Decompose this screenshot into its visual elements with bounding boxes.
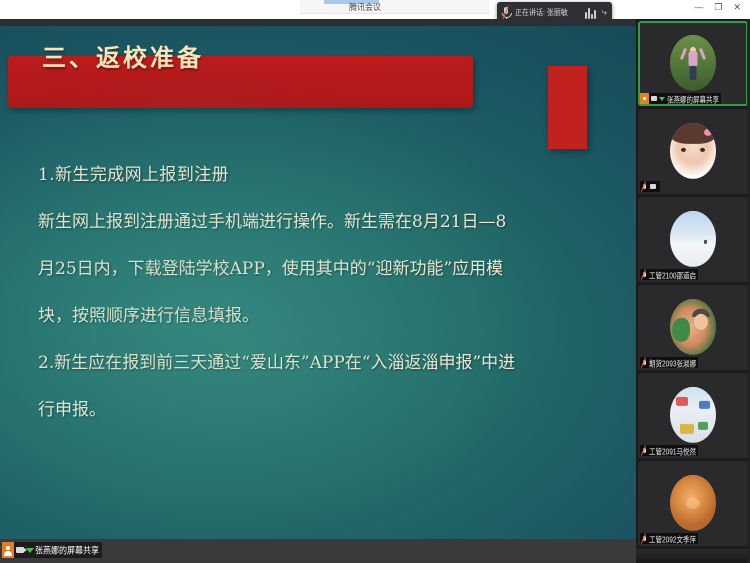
presenter-taskbar: 张燕娜的屏幕共享 [0, 539, 636, 563]
meeting-window: 腾讯会议 — ❐ ✕ 正在讲话: 张丽敏 ⤷ 三、返校准备 1.新生完成 [0, 0, 750, 563]
participant-name-5: 工管2091马悦然 [648, 445, 696, 457]
mic-muted-icon [640, 269, 648, 280]
participant-label-5: 工管2091马悦然 [640, 445, 698, 456]
slide-paragraph-6: 行申报。 [38, 387, 573, 434]
person-green-avatar [670, 298, 716, 354]
window-controls: — ❐ ✕ [694, 3, 741, 12]
participant-name-1: 张燕娜的屏幕共享 [666, 93, 719, 105]
mic-muted-icon [640, 357, 648, 368]
participant-label-2 [640, 181, 660, 192]
participant-rail[interactable]: 张燕娜的屏幕共享 工管2100邵道启 [636, 19, 750, 563]
shared-screen-area[interactable]: 三、返校准备 1.新生完成网上报到注册 新生网上报到注册通过手机端进行操作。新生… [0, 19, 636, 563]
participant-tile-3[interactable]: 工管2100邵道启 [638, 197, 748, 282]
slide-title-text: 三、返校准备 [42, 38, 204, 73]
orange-texture-avatar [670, 474, 716, 530]
minimize-button[interactable]: — [694, 3, 703, 12]
participant-tile-6[interactable]: 工管2092文季萍 [638, 461, 748, 546]
close-button[interactable]: ✕ [733, 3, 741, 12]
download-arrow-icon [658, 93, 666, 104]
participant-name-4: 期货2093张淑娜 [648, 357, 696, 369]
participant-label-1: 张燕娜的屏幕共享 [640, 93, 721, 104]
participant-name-6: 工管2092文季萍 [648, 533, 696, 545]
presentation-slide: 三、返校准备 1.新生完成网上报到注册 新生网上报到注册通过手机端进行操作。新生… [0, 26, 636, 542]
participant-tile-4[interactable]: 期货2093张淑娜 [638, 285, 748, 370]
mic-muted-icon[interactable] [502, 6, 510, 20]
participant-label-3: 工管2100邵道启 [640, 269, 698, 280]
participant-label-6: 工管2092文季萍 [640, 533, 698, 544]
sky-landscape-avatar [670, 210, 716, 266]
slide-paragraph-1: 1.新生完成网上报到注册 [38, 152, 573, 199]
window-title-bar: 腾讯会议 — ❐ ✕ [0, 0, 750, 20]
mic-muted-icon [640, 445, 648, 456]
participant-tile-5[interactable]: 工管2091马悦然 [638, 373, 748, 458]
slide-paragraph-2: 新生网上报到注册通过手机端进行操作。新生需在8月21日—8 [38, 199, 573, 246]
rail-bottom-fade [636, 549, 750, 563]
user-icon [640, 93, 649, 104]
app-title-text: 腾讯会议 [349, 3, 381, 12]
slide-paragraph-5: 2.新生应在报到前三天通过“爱山东”APP在“入淄返淄申报”中进 [38, 340, 573, 387]
presenter-name: 张燕娜的屏幕共享 [34, 544, 99, 557]
mic-muted-icon [640, 533, 648, 544]
speaking-label: 正在讲话: 张丽敏 [515, 8, 581, 19]
participant-tile-2[interactable] [638, 109, 748, 194]
slide-paragraph-3: 月25日内，下载登陆学校APP，使用其中的“迎新功能”应用模 [38, 246, 573, 293]
slide-red-accent-block [548, 66, 587, 149]
maximize-button[interactable]: ❐ [714, 3, 722, 12]
presenter-tag[interactable]: 张燕娜的屏幕共享 [2, 542, 102, 558]
slide-paragraph-4: 块，按照顺序进行信息填报。 [38, 293, 573, 340]
participant-label-4: 期货2093张淑娜 [640, 357, 698, 368]
toolbar-icon-group: ⤷ [585, 7, 607, 20]
camera-icon [649, 93, 658, 104]
participant-tile-1[interactable]: 张燕娜的屏幕共享 [638, 21, 748, 106]
slide-body-text: 1.新生完成网上报到注册 新生网上报到注册通过手机端进行操作。新生需在8月21日… [38, 152, 573, 434]
person-arms-raised-avatar [670, 34, 716, 90]
camera-icon [648, 181, 657, 192]
user-icon [2, 542, 14, 558]
expand-arrow-icon[interactable]: ⤷ [601, 8, 607, 18]
collage-avatar [670, 386, 716, 442]
mic-muted-icon [640, 181, 648, 192]
camera-icon [14, 542, 25, 558]
audio-wave-icon[interactable] [585, 7, 598, 20]
participant-name-3: 工管2100邵道启 [648, 269, 696, 281]
girl-portrait-avatar [670, 122, 716, 178]
app-title: 腾讯会议 [0, 2, 750, 14]
